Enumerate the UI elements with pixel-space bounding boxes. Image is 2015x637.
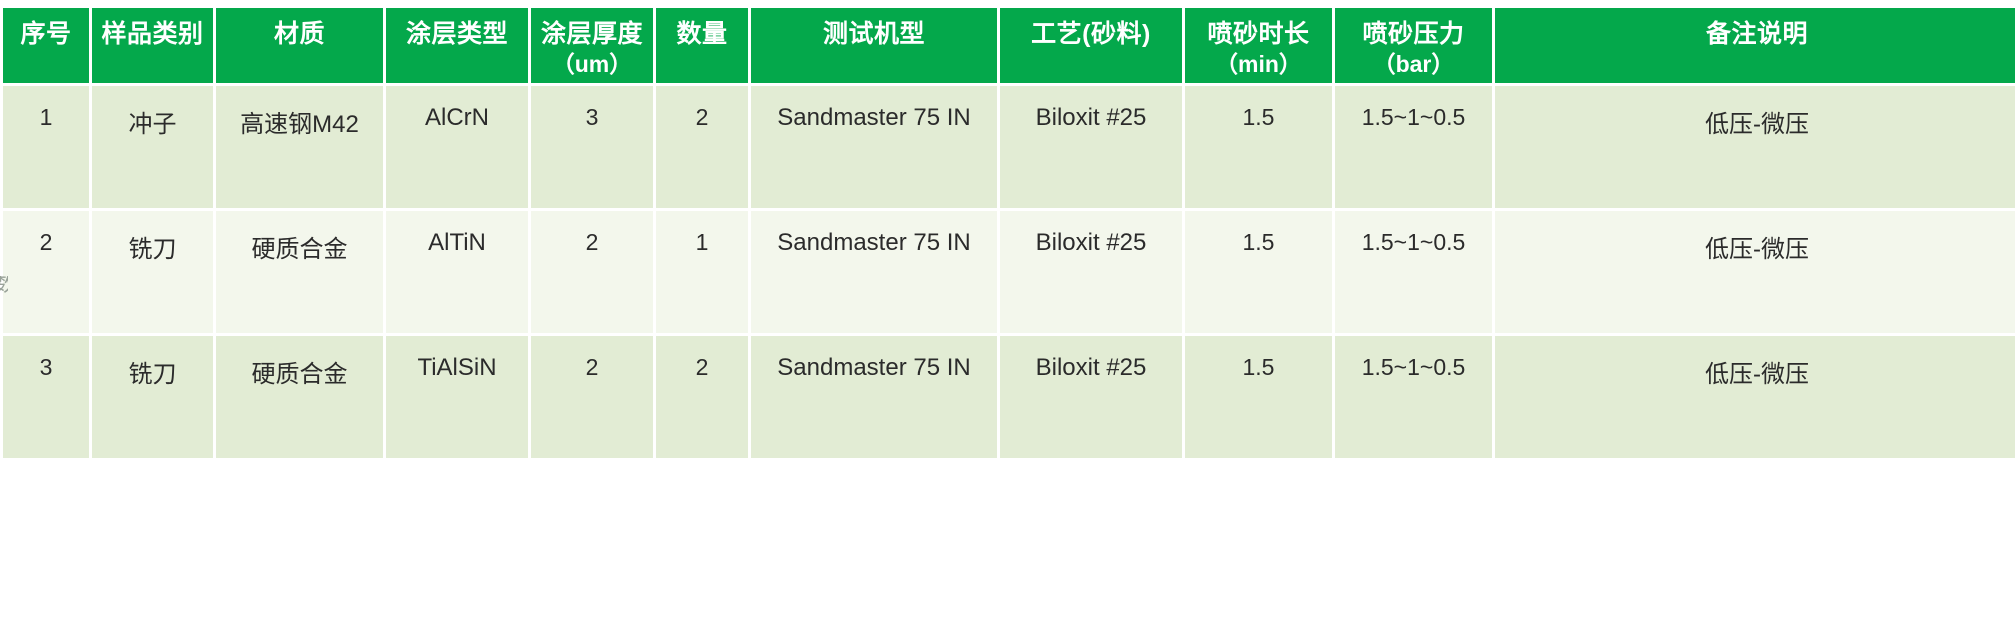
cell-process-media: Biloxit #25: [1000, 211, 1185, 336]
col-header-sample-type-label: 样品类别: [101, 20, 203, 48]
cell-remark: 低压-微压: [1495, 336, 2015, 461]
table-body: 1 冲子 高速钢M42 AlCrN 3 2 Sandmaster 75 IN B…: [0, 86, 2015, 461]
cell-test-machine: Sandmaster 75 IN: [751, 336, 1000, 461]
cell-process-media: Biloxit #25: [1000, 86, 1185, 211]
col-header-test-machine-label: 测试机型: [823, 20, 925, 48]
col-header-index[interactable]: 序号: [0, 8, 92, 86]
col-header-blast-pressure-unit: （bar）: [1339, 50, 1488, 78]
cell-material: 硬质合金: [216, 211, 386, 336]
cell-blast-time: 1.5: [1185, 336, 1335, 461]
table-header: 序号 样品类别 材质 涂层类型 涂层厚度 （um） 数量: [0, 8, 2015, 86]
col-header-test-machine[interactable]: 测试机型: [751, 8, 1000, 86]
col-header-material-label: 材质: [274, 20, 325, 48]
table-row[interactable]: 1 冲子 高速钢M42 AlCrN 3 2 Sandmaster 75 IN B…: [0, 86, 2015, 211]
col-header-coating-thickness-unit: （um）: [535, 50, 649, 78]
cell-coating-type: AlTiN: [386, 211, 531, 336]
cell-remark: 低压-微压: [1495, 86, 2015, 211]
col-header-coating-thickness[interactable]: 涂层厚度 （um）: [531, 8, 656, 86]
cell-test-machine: Sandmaster 75 IN: [751, 86, 1000, 211]
table-row[interactable]: 2 铣刀 硬质合金 AlTiN 2 1 Sandmaster 75 IN Bil…: [0, 211, 2015, 336]
col-header-remark-label: 备注说明: [1706, 20, 1808, 48]
table-row[interactable]: 3 铣刀 硬质合金 TiAlSiN 2 2 Sandmaster 75 IN B…: [0, 336, 2015, 461]
cell-coating-thickness: 3: [531, 86, 656, 211]
cell-blast-pressure: 1.5~1~0.5: [1335, 336, 1495, 461]
cell-blast-time: 1.5: [1185, 86, 1335, 211]
cell-sample-type: 铣刀: [92, 211, 216, 336]
col-header-blast-time[interactable]: 喷砂时长 （min）: [1185, 8, 1335, 86]
col-header-quantity[interactable]: 数量: [656, 8, 751, 86]
col-header-process-media[interactable]: 工艺(砂料): [1000, 8, 1185, 86]
header-row: 序号 样品类别 材质 涂层类型 涂层厚度 （um） 数量: [0, 8, 2015, 86]
cell-remark: 低压-微压: [1495, 211, 2015, 336]
col-header-blast-pressure[interactable]: 喷砂压力 （bar）: [1335, 8, 1495, 86]
col-header-blast-time-label: 喷砂时长: [1207, 20, 1309, 48]
col-header-index-label: 序号: [20, 20, 71, 48]
cell-process-media: Biloxit #25: [1000, 336, 1185, 461]
col-header-remark[interactable]: 备注说明: [1495, 8, 2015, 86]
cell-material: 硬质合金: [216, 336, 386, 461]
col-header-quantity-label: 数量: [676, 20, 727, 48]
cell-quantity: 2: [656, 336, 751, 461]
cell-material: 高速钢M42: [216, 86, 386, 211]
col-header-blast-pressure-label: 喷砂压力: [1362, 20, 1464, 48]
col-header-process-media-label: 工艺(砂料): [1031, 20, 1151, 48]
col-header-material[interactable]: 材质: [216, 8, 386, 86]
cell-quantity: 1: [656, 211, 751, 336]
cell-sample-type: 冲子: [92, 86, 216, 211]
cell-index: 1: [0, 86, 92, 211]
sample-spec-table: 序号 样品类别 材质 涂层类型 涂层厚度 （um） 数量: [0, 8, 2015, 461]
col-header-coating-type-label: 涂层类型: [406, 20, 508, 48]
cell-index: 3: [0, 336, 92, 461]
cell-sample-type: 铣刀: [92, 336, 216, 461]
spec-table-container: 数 序号 样品类别 材质: [0, 0, 2015, 637]
cell-blast-pressure: 1.5~1~0.5: [1335, 86, 1495, 211]
cell-coating-type: TiAlSiN: [386, 336, 531, 461]
col-header-blast-time-unit: （min）: [1189, 50, 1328, 78]
cell-blast-pressure: 1.5~1~0.5: [1335, 211, 1495, 336]
col-header-coating-thickness-label: 涂层厚度: [541, 20, 643, 48]
col-header-sample-type[interactable]: 样品类别: [92, 8, 216, 86]
cell-coating-type: AlCrN: [386, 86, 531, 211]
cell-test-machine: Sandmaster 75 IN: [751, 211, 1000, 336]
cell-coating-thickness: 2: [531, 336, 656, 461]
cell-index: 2: [0, 211, 92, 336]
cell-coating-thickness: 2: [531, 211, 656, 336]
clipped-edge-glyph: 数: [0, 276, 8, 310]
col-header-coating-type[interactable]: 涂层类型: [386, 8, 531, 86]
cell-blast-time: 1.5: [1185, 211, 1335, 336]
cell-quantity: 2: [656, 86, 751, 211]
